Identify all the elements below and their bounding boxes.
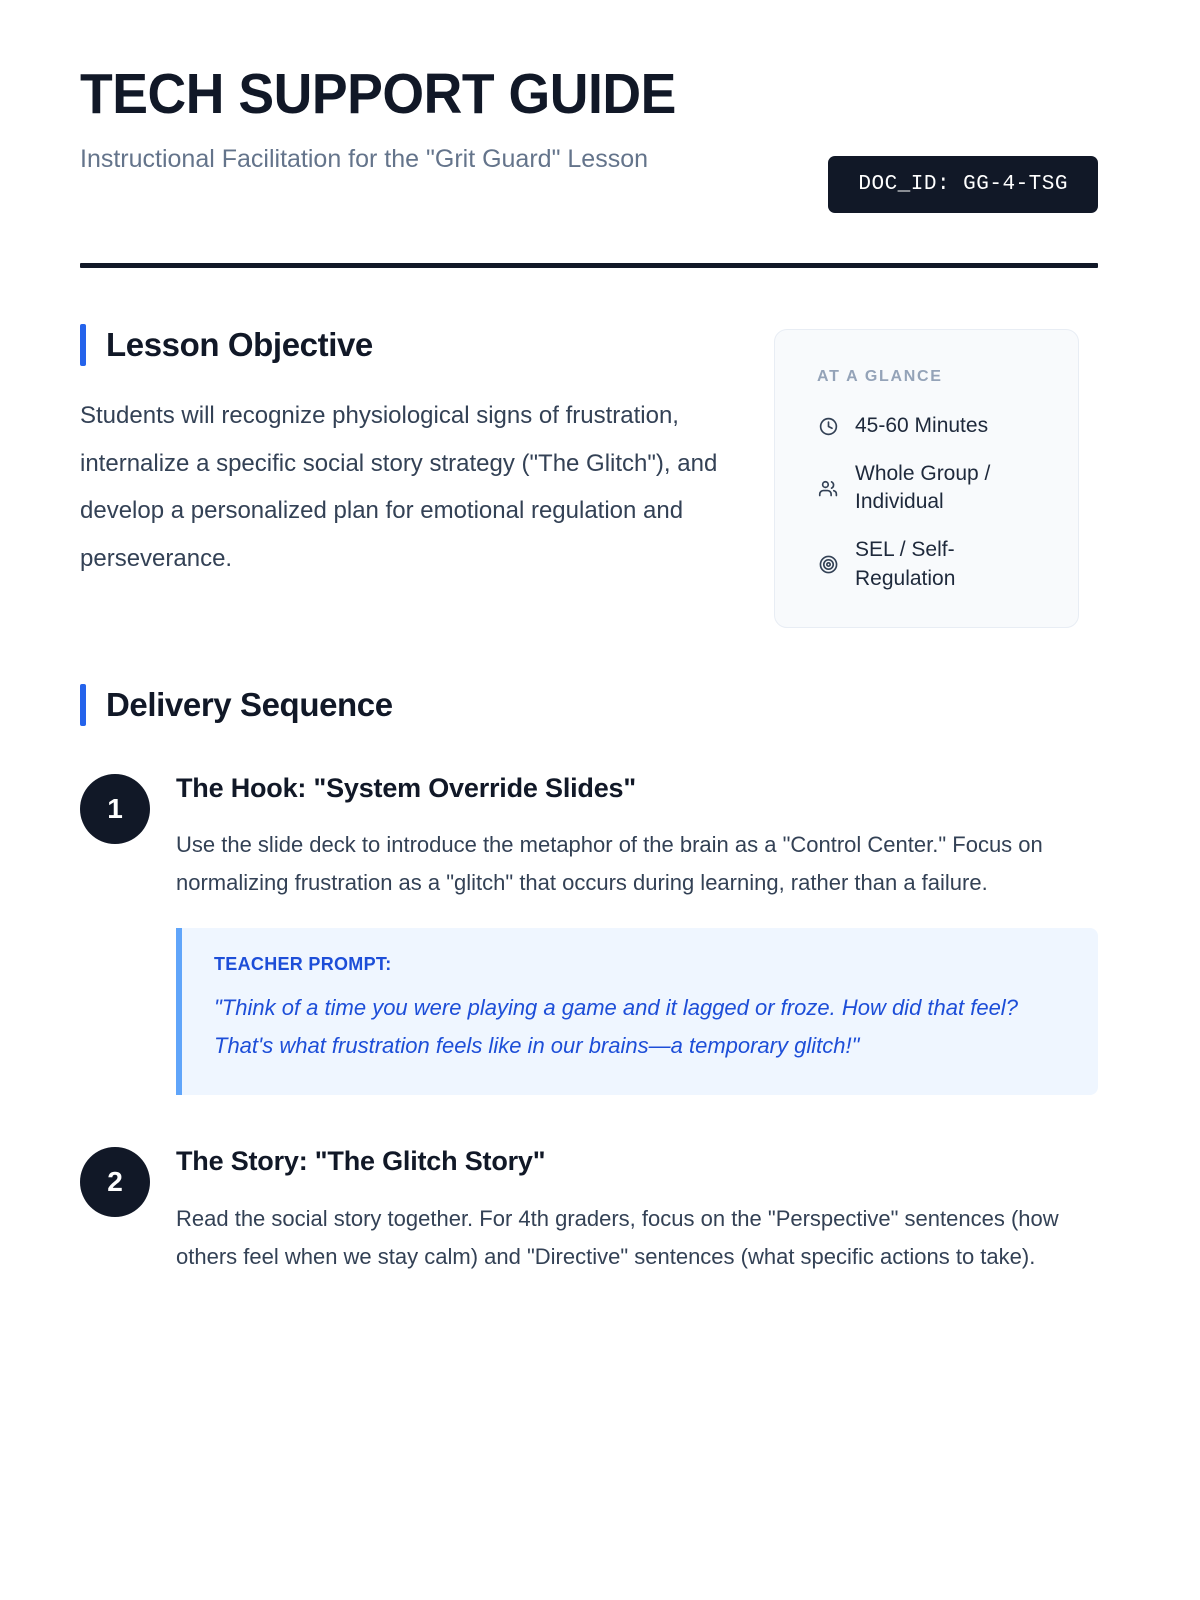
delivery-sequence-heading-label: Delivery Sequence <box>106 686 393 724</box>
glance-item-grouping: Whole Group / Individual <box>817 460 1048 516</box>
step-title: The Story: "The Glitch Story" <box>176 1145 1098 1177</box>
step-title: The Hook: "System Override Slides" <box>176 772 1098 804</box>
objective-body-text: Students will recognize physiological si… <box>80 392 740 582</box>
objective-column: Lesson Objective Students will recognize… <box>80 324 740 582</box>
heading-accent-bar <box>80 324 86 366</box>
glance-label-duration: 45-60 Minutes <box>855 412 988 440</box>
delivery-sequence-section: Delivery Sequence 1 The Hook: "System Ov… <box>80 684 1098 1276</box>
at-a-glance-card: AT A GLANCE 45-60 Minutes <box>774 329 1079 628</box>
steps-list: 1 The Hook: "System Override Slides" Use… <box>80 768 1098 1276</box>
header-divider <box>80 263 1098 268</box>
teacher-prompt-label: TEACHER PROMPT: <box>214 954 1068 975</box>
users-icon <box>817 477 839 499</box>
glance-label-grouping: Whole Group / Individual <box>855 460 1048 516</box>
header-text-block: TECH SUPPORT GUIDE Instructional Facilit… <box>80 64 788 176</box>
teacher-prompt-callout: TEACHER PROMPT: "Think of a time you wer… <box>176 928 1098 1095</box>
glance-label-focus: SEL / Self-Regulation <box>855 536 1048 592</box>
clock-icon <box>817 415 839 437</box>
target-icon <box>817 554 839 576</box>
step-item: 2 The Story: "The Glitch Story" Read the… <box>80 1141 1098 1275</box>
teacher-prompt-quote: "Think of a time you were playing a game… <box>214 989 1068 1065</box>
document-header: TECH SUPPORT GUIDE Instructional Facilit… <box>80 64 1098 213</box>
step-description: Read the social story together. For 4th … <box>176 1200 1098 1276</box>
step-number-badge: 1 <box>80 774 150 844</box>
document-page: TECH SUPPORT GUIDE Instructional Facilit… <box>0 0 1200 1276</box>
step-item: 1 The Hook: "System Override Slides" Use… <box>80 768 1098 1096</box>
page-title: TECH SUPPORT GUIDE <box>80 64 746 126</box>
glance-item-focus: SEL / Self-Regulation <box>817 536 1048 592</box>
heading-accent-bar <box>80 684 86 726</box>
objective-heading: Lesson Objective <box>80 324 740 366</box>
objective-section: Lesson Objective Students will recognize… <box>80 324 1098 628</box>
page-subtitle: Instructional Facilitation for the "Grit… <box>80 142 770 177</box>
step-body: The Story: "The Glitch Story" Read the s… <box>176 1141 1098 1275</box>
delivery-sequence-heading: Delivery Sequence <box>80 684 1098 726</box>
objective-heading-label: Lesson Objective <box>106 326 373 364</box>
at-a-glance-title: AT A GLANCE <box>817 368 1048 386</box>
glance-item-duration: 45-60 Minutes <box>817 412 1048 440</box>
step-body: The Hook: "System Override Slides" Use t… <box>176 768 1098 1096</box>
step-description: Use the slide deck to introduce the meta… <box>176 826 1098 902</box>
step-number-badge: 2 <box>80 1147 150 1217</box>
doc-id-badge: DOC_ID: GG-4-TSG <box>828 156 1098 213</box>
